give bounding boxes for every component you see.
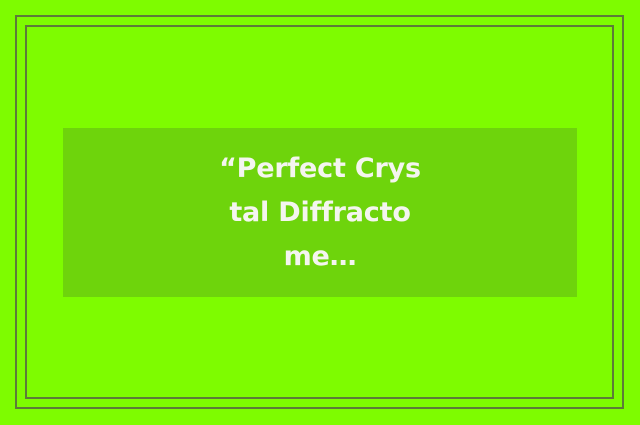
slide-canvas: “Perfect Crystal Diffractome… <box>0 0 640 425</box>
title-card: “Perfect Crystal Diffractome… <box>63 128 577 297</box>
card-title-text: “Perfect Crystal Diffractome… <box>218 147 423 279</box>
